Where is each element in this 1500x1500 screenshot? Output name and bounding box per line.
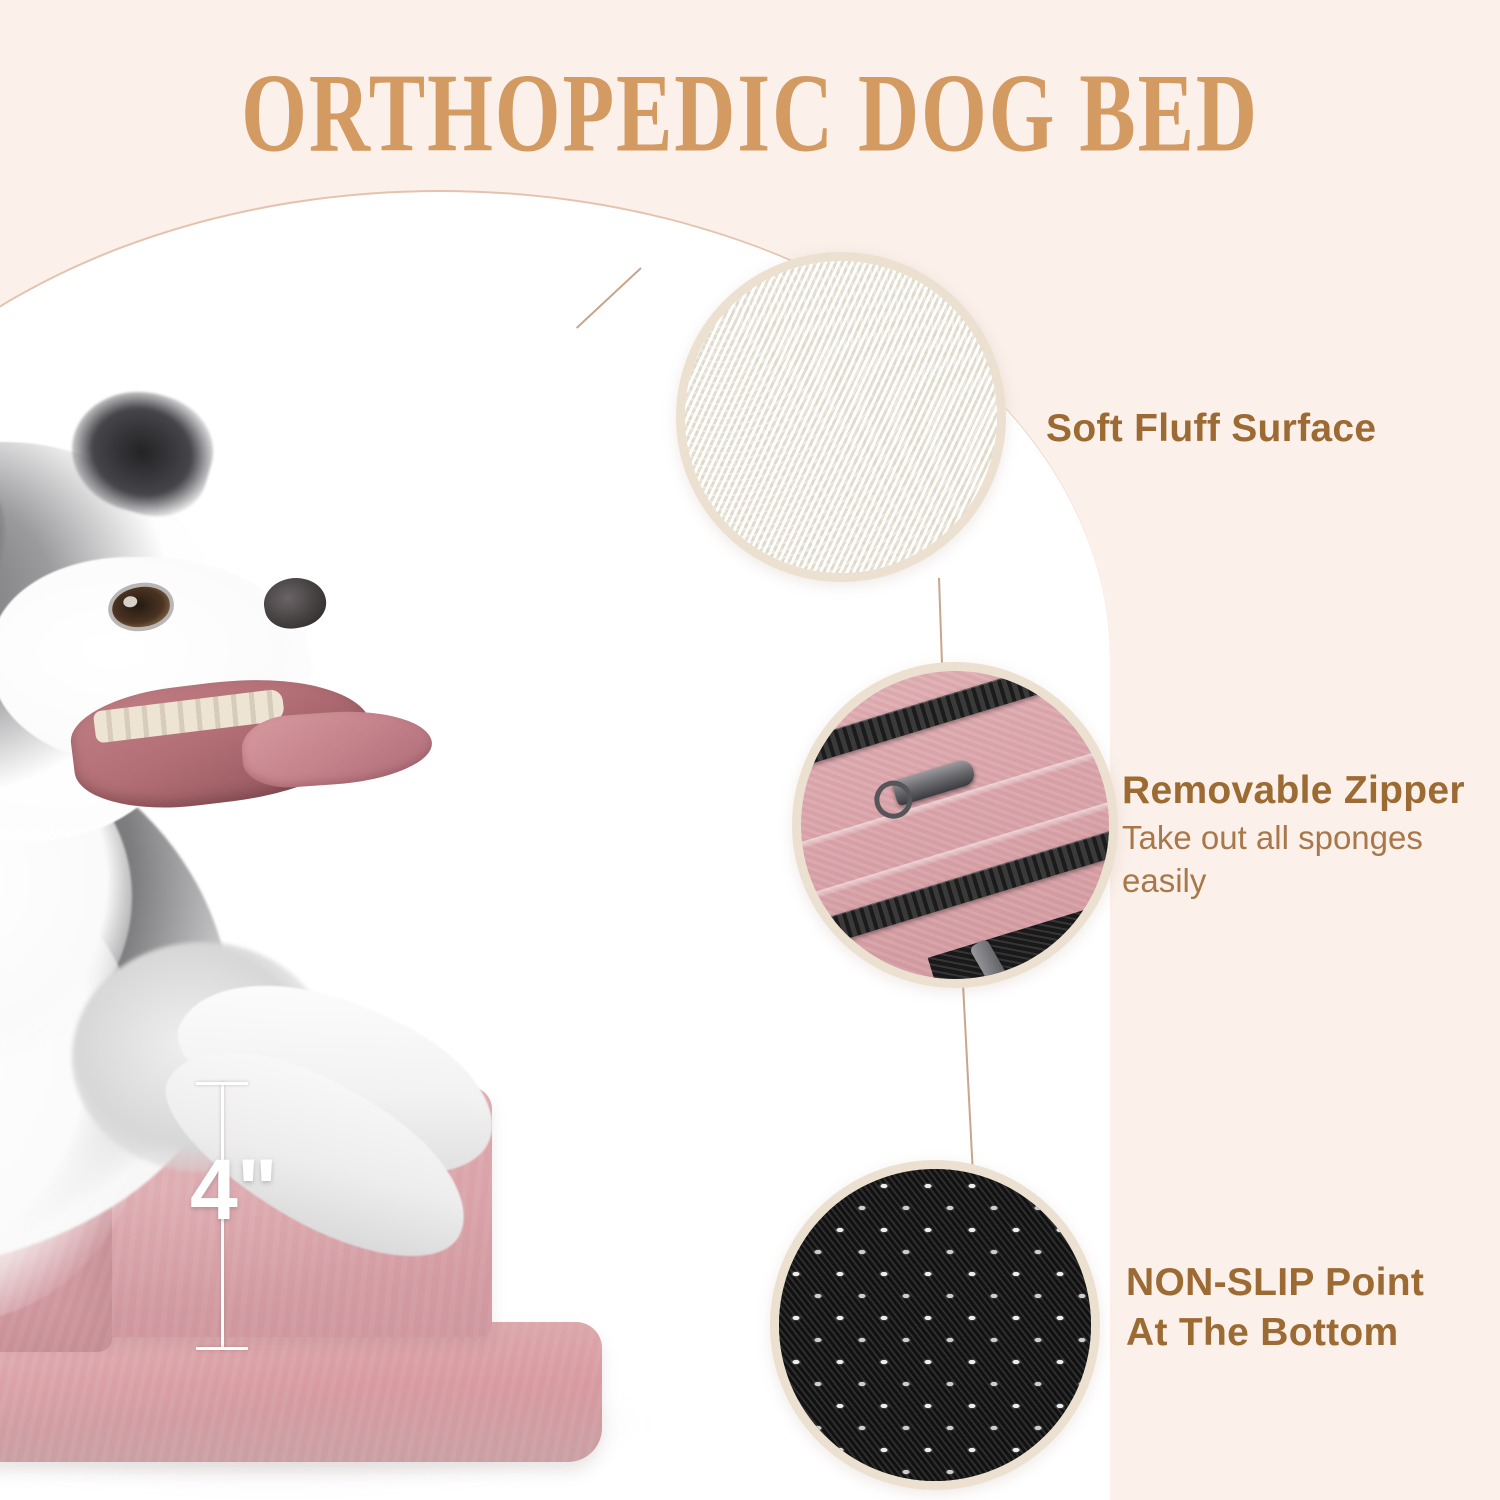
- dog-photo: [0, 382, 652, 1392]
- swatch-circle-non-slip: [770, 1160, 1100, 1490]
- feature-title: Removable Zipper: [1122, 766, 1467, 816]
- feature-label-non-slip: NON-SLIP Point At The Bottom: [1126, 1258, 1424, 1358]
- non-slip-dots-row-b: [770, 1160, 1100, 1490]
- feature-title: Soft Fluff Surface: [1046, 404, 1376, 454]
- swatch-circle-soft-fluff: [676, 252, 1006, 582]
- infographic-canvas: ORTHOPEDIC DOG BED: [0, 0, 1500, 1500]
- feature-title-line2: At The Bottom: [1126, 1308, 1424, 1358]
- dimension-cap-top: [196, 1082, 248, 1085]
- dog-tongue: [240, 705, 435, 790]
- swatch-circle-removable-zipper: [792, 662, 1118, 988]
- feature-title-line1: NON-SLIP Point: [1126, 1258, 1424, 1308]
- feature-label-soft-fluff: Soft Fluff Surface: [1046, 404, 1376, 454]
- feature-subtitle: Take out all sponges easily: [1122, 816, 1467, 903]
- page-title: ORTHOPEDIC DOG BED: [60, 48, 1440, 177]
- fluff-texture: [676, 252, 1006, 582]
- feature-label-removable-zipper: Removable Zipper Take out all sponges ea…: [1122, 766, 1467, 903]
- dimension-label: 4": [190, 1147, 277, 1233]
- dimension-cap-bottom: [196, 1347, 248, 1350]
